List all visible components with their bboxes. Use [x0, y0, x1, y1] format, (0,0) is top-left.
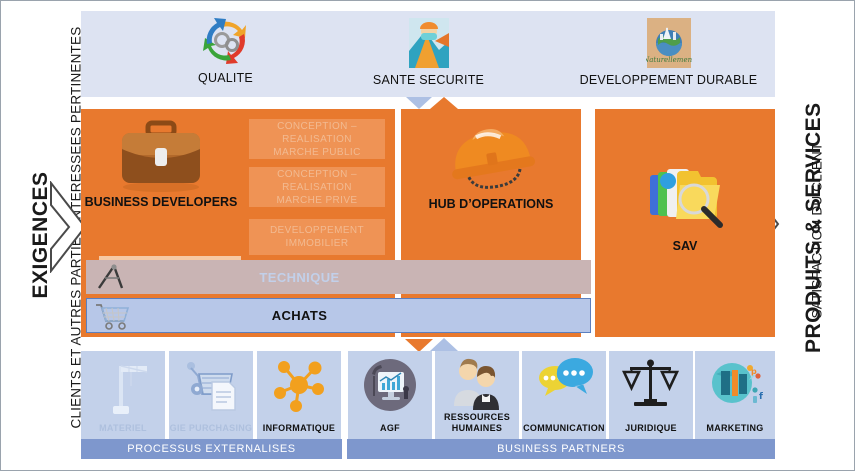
support-item-label: COMMUNICATION	[522, 423, 606, 434]
marketing-globe-icon: f p	[706, 356, 764, 410]
support-item-label: MATERIEL	[81, 423, 165, 434]
down-triangle-blue-icon	[406, 97, 432, 109]
top-band: QUALITE SANTE SECURITE	[81, 11, 775, 97]
group-label-processus-externalises: PROCESSUS EXTERNALISES	[81, 439, 342, 459]
right-rail: PRODUITS & SERVICES SATISFACTION DU CLIE…	[764, 1, 854, 472]
top-item-developpement-durable[interactable]: Naturellement DEVELOPPEMENT DURABLE	[561, 11, 776, 97]
support-item-label: JURIDIQUE	[609, 423, 693, 434]
top-item-qualite[interactable]: QUALITE	[143, 11, 308, 97]
right-rail-subtitle: SATISFACTION DU CLIENT	[810, 141, 825, 321]
speech-bubbles-icon	[535, 356, 593, 408]
pdca-cycle-icon	[198, 17, 254, 67]
safety-worker-icon	[405, 17, 453, 69]
top-item-label: QUALITE	[198, 71, 253, 85]
group-label-business-partners: BUSINESS PARTNERS	[347, 439, 775, 459]
subprocess-developpement-immobilier[interactable]: DEVELOPPEMENT IMMOBILIER	[249, 219, 385, 255]
support-item-juridique[interactable]: JURIDIQUE	[609, 351, 693, 439]
top-item-label: SANTE SECURITE	[373, 73, 484, 87]
sav-card[interactable]: SAV	[595, 161, 775, 291]
top-item-sante-securite[interactable]: SANTE SECURITE	[346, 11, 511, 97]
scales-justice-icon	[622, 356, 680, 410]
support-item-gie-purchasing[interactable]: GIE PURCHASING	[169, 351, 253, 439]
up-triangle-orange-icon	[430, 97, 458, 109]
sustainable-development-icon: Naturellement	[646, 17, 692, 69]
cart-document-icon	[182, 356, 240, 418]
support-item-ressources-humaines[interactable]: RESSOURCES HUMAINES	[435, 351, 519, 439]
left-rail: EXIGENCES CLIENTS ET AUTRES PARTIES INTE…	[1, 1, 73, 472]
folders-magnifier-icon	[642, 161, 728, 233]
sav-label: SAV	[673, 239, 698, 253]
support-item-agf[interactable]: AGF	[348, 351, 432, 439]
shopping-cart-icon	[93, 301, 131, 331]
subprocess-label: CONCEPTION – REALISATION MARCHE PRIVE	[249, 168, 385, 207]
support-item-label: RESSOURCES HUMAINES	[435, 412, 519, 434]
subprocess-conception-realisation-marche-prive[interactable]: CONCEPTION – REALISATION MARCHE PRIVE	[249, 167, 385, 207]
hard-hat-icon	[439, 113, 543, 193]
hub-operations-label: HUB D’OPERATIONS	[429, 197, 554, 211]
core-block-sav: SAV	[595, 109, 775, 337]
support-item-label: GIE PURCHASING	[169, 423, 253, 434]
people-icon	[448, 356, 506, 412]
bar-technique-label: TECHNIQUE	[86, 270, 591, 285]
support-item-materiel[interactable]: MATERIEL	[81, 351, 165, 439]
bar-achats[interactable]: ACHATS	[86, 298, 591, 333]
bar-achats-label: ACHATS	[87, 308, 590, 323]
support-item-marketing[interactable]: f p MARKETING	[695, 351, 775, 439]
svg-text:p: p	[751, 367, 757, 376]
compass-divider-icon	[92, 263, 128, 291]
subprocess-conception-realisation-marche-public[interactable]: CONCEPTION – REALISATION MARCHE PUBLIC	[249, 119, 385, 159]
support-item-label: MARKETING	[695, 423, 775, 434]
svg-text:f: f	[759, 392, 763, 402]
briefcase-icon	[112, 115, 210, 193]
up-triangle-blue-icon	[430, 338, 458, 351]
business-developers-card[interactable]: BUSINESS DEVELOPERS	[81, 109, 241, 257]
support-item-informatique[interactable]: INFORMATIQUE	[257, 351, 341, 439]
process-map-diagram: EXIGENCES CLIENTS ET AUTRES PARTIES INTE…	[0, 0, 855, 471]
subprocess-label: DEVELOPPEMENT IMMOBILIER	[249, 224, 385, 250]
network-nodes-icon	[270, 356, 328, 414]
finance-dashboard-icon	[361, 356, 419, 414]
svg-text:Naturellement: Naturellement	[646, 56, 692, 64]
top-item-label: DEVELOPPEMENT DURABLE	[580, 73, 758, 87]
support-item-label: AGF	[348, 423, 432, 434]
subprocess-label: CONCEPTION – REALISATION MARCHE PUBLIC	[249, 120, 385, 159]
business-developers-label: BUSINESS DEVELOPERS	[85, 195, 238, 209]
support-item-communication[interactable]: COMMUNICATION	[522, 351, 606, 439]
bar-technique[interactable]: TECHNIQUE	[86, 260, 591, 294]
support-item-label: INFORMATIQUE	[257, 423, 341, 434]
hub-operations-card[interactable]: HUB D’OPERATIONS	[401, 113, 581, 253]
crane-icon	[95, 356, 151, 418]
